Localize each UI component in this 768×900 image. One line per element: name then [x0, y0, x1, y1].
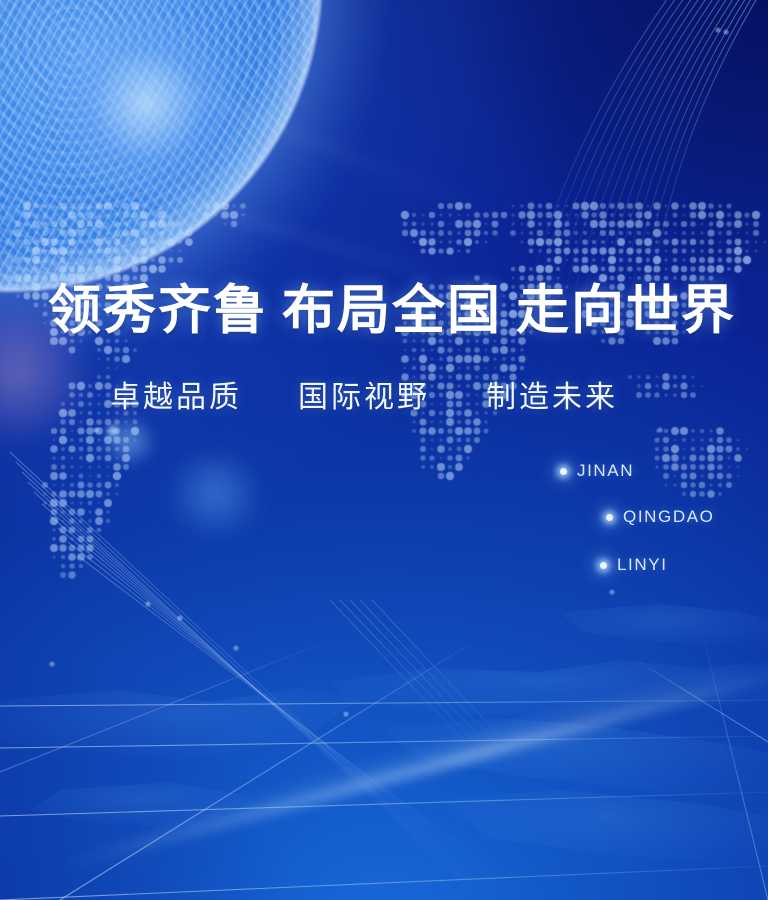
lens-flare-blue-large	[160, 455, 270, 533]
page-title: 领秀齐鲁布局全国走向世界	[48, 268, 736, 344]
subtitle-part-1: 卓越品质	[110, 381, 242, 414]
lens-flare-core	[106, 424, 120, 438]
hero-banner: 领秀齐鲁布局全国走向世界 卓越品质国际视野制造未来 JINAN QINGDAO …	[0, 0, 768, 900]
location-pin-icon	[600, 562, 607, 569]
page-subtitle: 卓越品质国际视野制造未来	[110, 372, 618, 416]
city-marker-linyi[interactable]: LINYI	[600, 555, 668, 575]
world-map-silhouette	[0, 604, 768, 868]
city-label: LINYI	[617, 555, 668, 575]
lens-flare-blue-small	[96, 418, 162, 464]
location-pin-icon	[560, 468, 567, 475]
headline-part-3: 走向世界	[516, 282, 736, 340]
location-pin-icon	[606, 514, 613, 521]
light-beam-secondary	[120, 652, 768, 836]
headline-part-1: 领秀齐鲁	[48, 282, 268, 340]
city-label: QINGDAO	[623, 507, 715, 527]
city-marker-qingdao[interactable]: QINGDAO	[606, 507, 715, 527]
globe-atmosphere-rim	[0, 0, 322, 292]
light-beam	[59, 664, 768, 869]
city-label: JINAN	[577, 461, 634, 481]
headline-part-2: 布局全国	[282, 282, 502, 340]
perspective-grid	[0, 634, 768, 900]
subtitle-part-2: 国际视野	[298, 381, 430, 414]
city-marker-jinan[interactable]: JINAN	[560, 461, 634, 481]
subtitle-part-3: 制造未来	[486, 381, 618, 414]
